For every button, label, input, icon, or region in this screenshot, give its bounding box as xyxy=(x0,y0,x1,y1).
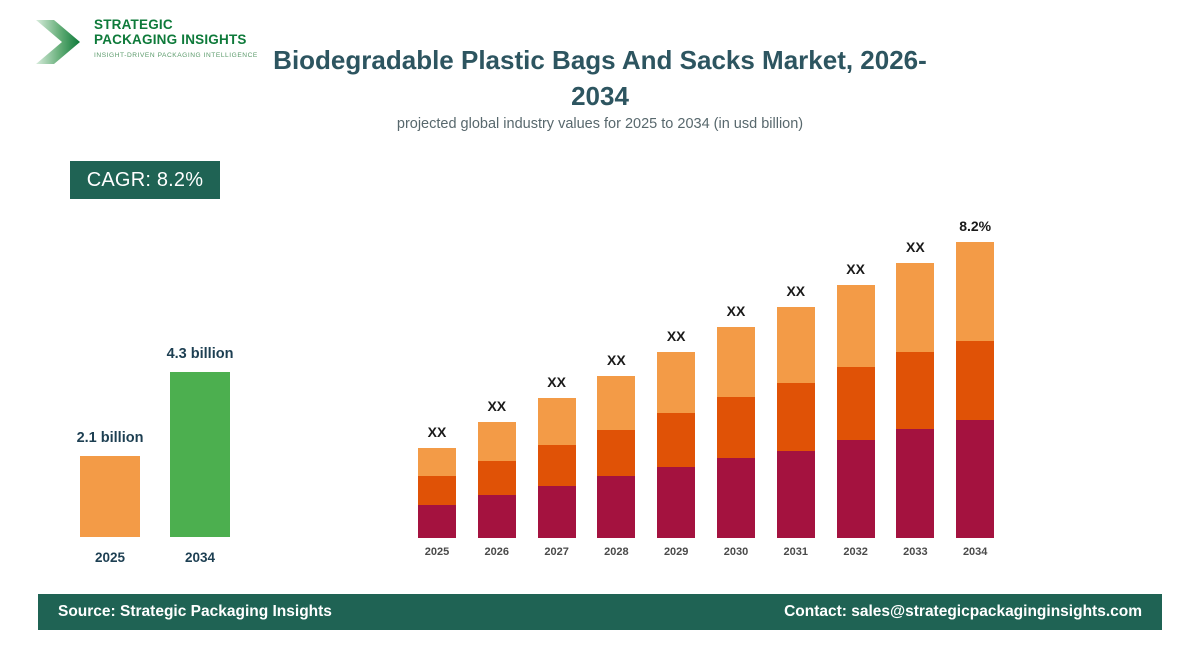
page-subtitle: projected global industry values for 202… xyxy=(260,116,940,132)
stacked-bar xyxy=(717,327,755,538)
stacked-category-label: 2030 xyxy=(706,546,766,558)
stacked-bar-segment xyxy=(597,376,635,430)
stacked-bar-segment xyxy=(717,397,755,458)
stacked-category-label: 2025 xyxy=(407,546,467,558)
stacked-category-label: 2027 xyxy=(527,546,587,558)
mini-bar xyxy=(80,456,140,537)
stacked-bar-value-label: 8.2% xyxy=(925,218,1025,234)
stacked-category-label: 2033 xyxy=(885,546,945,558)
cagr-badge: CAGR: 8.2% xyxy=(70,161,220,199)
stacked-category-label: 2029 xyxy=(646,546,706,558)
stacked-bar xyxy=(896,263,934,538)
stacked-bar-segment xyxy=(418,505,456,538)
stacked-bar xyxy=(478,422,516,538)
stacked-bar-segment xyxy=(717,327,755,397)
stacked-bar-segment xyxy=(538,445,576,486)
footer-source-text: Source: Strategic Packaging Insights xyxy=(58,594,332,630)
stacked-bar-segment xyxy=(896,352,934,429)
stacked-bar-segment xyxy=(956,420,994,538)
mini-bar-value-label: 2.1 billion xyxy=(40,430,180,446)
stacked-bar-segment xyxy=(956,341,994,420)
brand-logo-text: STRATEGIC PACKAGING INSIGHTS INSIGHT-DRI… xyxy=(94,18,254,59)
stacked-bar-value-label: XX xyxy=(507,374,607,390)
stacked-bar-value-label: XX xyxy=(626,328,726,344)
stacked-bar-segment xyxy=(538,486,576,538)
brand-logo: STRATEGIC PACKAGING INSIGHTS INSIGHT-DRI… xyxy=(32,14,252,74)
stacked-bar-value-label: XX xyxy=(686,303,786,319)
stacked-bar-segment xyxy=(597,476,635,538)
stacked-bar-segment xyxy=(837,440,875,538)
stacked-bar-segment xyxy=(478,461,516,495)
brand-name-line2: PACKAGING INSIGHTS xyxy=(94,33,254,48)
stacked-bar xyxy=(777,307,815,538)
mini-bar-value-label: 4.3 billion xyxy=(130,346,270,362)
infographic-page: STRATEGIC PACKAGING INSIGHTS INSIGHT-DRI… xyxy=(0,0,1200,650)
stacked-bar-segment xyxy=(657,413,695,467)
stacked-category-label: 2026 xyxy=(467,546,527,558)
stacked-bar xyxy=(657,352,695,538)
stacked-bar-segment xyxy=(657,352,695,413)
stacked-bar xyxy=(538,398,576,538)
footer-contact-text: Contact: sales@strategicpackaginginsight… xyxy=(784,594,1142,630)
stacked-bar-value-label: XX xyxy=(387,424,487,440)
stacked-bar-segment xyxy=(896,429,934,538)
stacked-bar-segment xyxy=(478,495,516,538)
brand-name-line1: STRATEGIC xyxy=(94,18,254,33)
stacked-bar-segment xyxy=(777,451,815,538)
stacked-bar-segment xyxy=(777,307,815,383)
stacked-bar xyxy=(956,242,994,538)
stacked-bar-segment xyxy=(418,448,456,476)
stacked-bar xyxy=(418,448,456,538)
stacked-bar xyxy=(597,376,635,538)
stacked-bar-value-label: XX xyxy=(566,352,666,368)
footer-bar: Source: Strategic Packaging Insights Con… xyxy=(38,594,1162,630)
mini-category-label: 2025 xyxy=(80,550,140,565)
chevron-right-icon xyxy=(32,16,88,68)
stacked-bar-segment xyxy=(837,367,875,440)
stacked-bar-segment xyxy=(837,285,875,367)
stacked-bar-segment xyxy=(657,467,695,538)
stacked-category-label: 2028 xyxy=(586,546,646,558)
stacked-category-label: 2032 xyxy=(826,546,886,558)
endpoint-comparison-chart: 2.1 billion20254.3 billion2034 xyxy=(40,300,290,575)
stacked-bar-value-label: XX xyxy=(865,239,965,255)
stacked-bar-segment xyxy=(717,458,755,538)
stacked-bar-segment xyxy=(418,476,456,505)
stacked-bar-segment xyxy=(597,430,635,476)
mini-category-label: 2034 xyxy=(170,550,230,565)
brand-tagline: INSIGHT-DRIVEN PACKAGING INTELLIGENCE xyxy=(94,52,254,59)
forecast-stacked-chart: XX2025XX2026XX2027XX2028XX2029XX2030XX20… xyxy=(400,195,1020,560)
stacked-bar-segment xyxy=(896,263,934,352)
page-title: Biodegradable Plastic Bags And Sacks Mar… xyxy=(260,42,940,114)
stacked-bar-value-label: XX xyxy=(806,261,906,277)
stacked-bar-segment xyxy=(478,422,516,461)
stacked-bar-value-label: XX xyxy=(447,398,547,414)
stacked-bar-segment xyxy=(956,242,994,341)
stacked-bar xyxy=(837,285,875,538)
stacked-bar-value-label: XX xyxy=(746,283,846,299)
mini-bar xyxy=(170,372,230,537)
stacked-bar-segment xyxy=(538,398,576,445)
stacked-category-label: 2034 xyxy=(945,546,1005,558)
stacked-bar-segment xyxy=(777,383,815,451)
stacked-category-label: 2031 xyxy=(766,546,826,558)
